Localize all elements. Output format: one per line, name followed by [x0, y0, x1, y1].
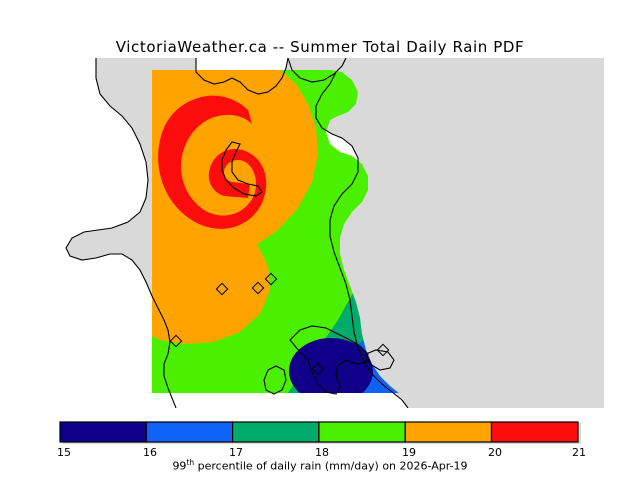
colorbar-bands[interactable] [60, 422, 578, 442]
colorbar-band-18-19[interactable] [319, 422, 405, 442]
map-svg[interactable] [0, 58, 640, 408]
caption-prefix: 99 [172, 460, 186, 473]
colorbar-band-17-18[interactable] [233, 422, 319, 442]
colorbar-band-20-21[interactable] [492, 422, 579, 442]
colorbar-band-19-20[interactable] [405, 422, 491, 442]
page-title: VictoriaWeather.ca -- Summer Total Daily… [0, 38, 640, 56]
caption-rest: percentile of daily rain (mm/day) on 202… [194, 460, 467, 473]
colorbar-band-16-17[interactable] [146, 422, 232, 442]
colorbar-caption: 99th percentile of daily rain (mm/day) o… [0, 458, 640, 473]
caption-superscript: th [186, 458, 194, 467]
weather-map-page: VictoriaWeather.ca -- Summer Total Daily… [0, 0, 640, 480]
colorbar-band-15-16[interactable] [60, 422, 146, 442]
colorbar-panel[interactable]: 15 16 17 18 19 20 21 99th percentile of … [0, 420, 640, 480]
map-panel[interactable] [0, 58, 640, 408]
